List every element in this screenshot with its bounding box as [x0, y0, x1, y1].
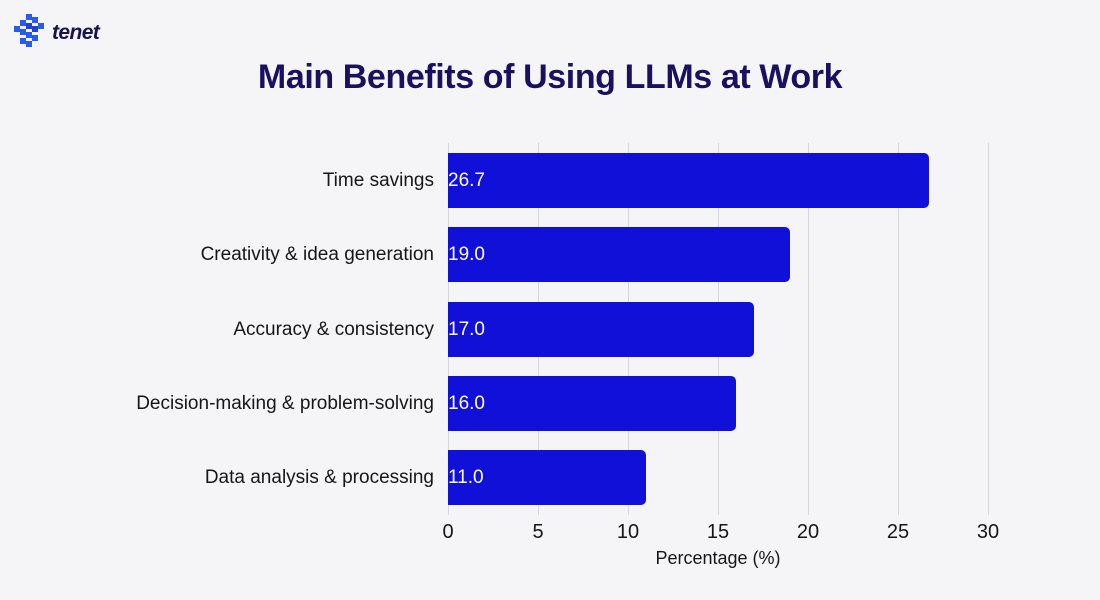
x-tick-label: 30	[977, 521, 999, 544]
category-label: Time savings	[323, 153, 434, 208]
gridline	[988, 143, 989, 515]
bar-value-label: 16.0	[448, 376, 736, 431]
category-label: Data analysis & processing	[205, 450, 434, 505]
tenet-pixel-cross-icon	[14, 14, 46, 48]
brand-logo: tenet	[14, 14, 99, 48]
category-label: Creativity & idea generation	[201, 227, 434, 282]
brand-wordmark: tenet	[52, 22, 99, 43]
chart-title: Main Benefits of Using LLMs at Work	[0, 58, 1100, 97]
x-tick-label: 5	[532, 521, 543, 544]
bar-row: Time savings26.7	[448, 153, 988, 208]
bar-row: Accuracy & consistency17.0	[448, 302, 988, 357]
x-tick-label: 10	[617, 521, 639, 544]
x-tick-label: 0	[442, 521, 453, 544]
x-tick-label: 20	[797, 521, 819, 544]
bar-row: Decision-making & problem-solving16.0	[448, 376, 988, 431]
bar-row: Data analysis & processing11.0	[448, 450, 988, 505]
x-axis-label: Percentage (%)	[448, 548, 988, 569]
bar-value-label: 19.0	[448, 227, 790, 282]
bar-value-label: 11.0	[448, 450, 646, 505]
bar-chart-plot-area: Time savings26.7Creativity & idea genera…	[448, 143, 988, 515]
bar-row: Creativity & idea generation19.0	[448, 227, 988, 282]
x-tick-label: 25	[887, 521, 909, 544]
x-tick-label: 15	[707, 521, 729, 544]
bar-value-label: 17.0	[448, 302, 754, 357]
category-label: Accuracy & consistency	[233, 302, 434, 357]
bar-value-label: 26.7	[448, 153, 929, 208]
category-label: Decision-making & problem-solving	[136, 376, 434, 431]
